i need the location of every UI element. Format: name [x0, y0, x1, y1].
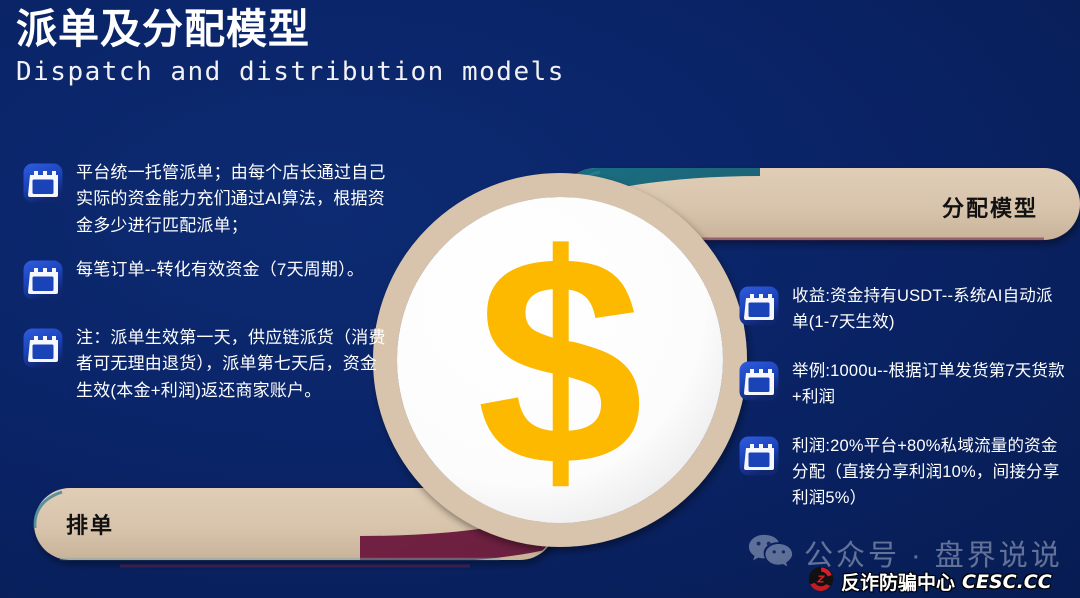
list-item-text: 注：派单生效第一天，供应链派货（消费者可无理由退货），派单第七天后，资金生效(本… — [76, 325, 394, 404]
svg-text:Z: Z — [816, 574, 825, 585]
calendar-icon — [738, 435, 780, 477]
list-item-text: 举例:1000u--根据订单发货第7天货款+利润 — [792, 358, 1068, 411]
page-title: 派单及分配模型 Dispatch and distribution models — [16, 6, 565, 88]
title-english: Dispatch and distribution models — [16, 57, 565, 88]
calendar-icon — [738, 360, 780, 402]
list-item: 平台统一托管派单；由每个店长通过自己实际的资金能力充们通过AI算法，根据资金多少… — [22, 160, 394, 239]
title-chinese: 派单及分配模型 — [16, 6, 565, 53]
calendar-icon — [22, 259, 64, 301]
list-item-text: 收益:资金持有USDT--系统AI自动派单(1-7天生效) — [792, 283, 1068, 336]
left-bullet-column: 平台统一托管派单；由每个店长通过自己实际的资金能力充们通过AI算法，根据资金多少… — [22, 160, 394, 422]
cesc-watermark: Z 反诈防骗中心 CESC.CC — [808, 566, 1052, 597]
list-item-text: 利润:20%平台+80%私域流量的资金分配（直接分享利润10%，间接分享利润5%… — [792, 433, 1068, 512]
list-item-text: 每笔订单--转化有效资金（7天周期）。 — [76, 257, 364, 283]
right-bullet-column: 收益:资金持有USDT--系统AI自动派单(1-7天生效) 举例:1000u--… — [738, 283, 1068, 534]
dollar-sign-icon: $ — [477, 192, 644, 528]
center-emblem-shape — [385, 185, 735, 535]
list-item: 收益:资金持有USDT--系统AI自动派单(1-7天生效) — [738, 283, 1068, 336]
left-banner-maroon-stripe — [360, 300, 760, 562]
calendar-icon — [22, 327, 64, 369]
cesc-badge-label-en: CESC.CC — [962, 571, 1052, 593]
left-banner-label: 排单 — [66, 508, 114, 540]
right-banner-label: 分配模型 — [942, 191, 1038, 223]
cesc-badge-label-cn: 反诈防骗中心 — [841, 568, 955, 595]
wechat-icon — [748, 533, 794, 573]
cesc-logo-icon: Z — [808, 566, 834, 597]
list-item: 利润:20%平台+80%私域流量的资金分配（直接分享利润10%，间接分享利润5%… — [738, 433, 1068, 512]
calendar-icon — [738, 285, 780, 327]
list-item: 每笔订单--转化有效资金（7天周期）。 — [22, 257, 394, 301]
list-item: 注：派单生效第一天，供应链派货（消费者可无理由退货），派单第七天后，资金生效(本… — [22, 325, 394, 404]
slide-canvas: $ 派单及分配模型 Dispatch and distribution mode… — [0, 0, 1080, 598]
list-item-text: 平台统一托管派单；由每个店长通过自己实际的资金能力充们通过AI算法，根据资金多少… — [76, 160, 394, 239]
calendar-icon — [22, 162, 64, 204]
list-item: 举例:1000u--根据订单发货第7天货款+利润 — [738, 358, 1068, 411]
